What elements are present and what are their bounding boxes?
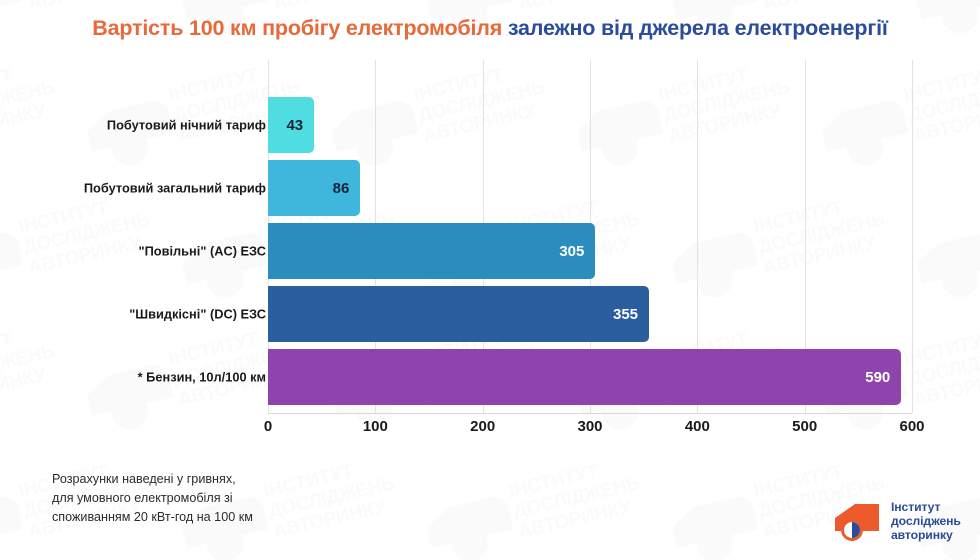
- bar-value-label: 43: [286, 117, 314, 134]
- bar-category-label: Побутовий загальний тариф: [84, 181, 266, 196]
- logo-line-3: авторинку: [891, 528, 961, 542]
- logo-wordmark: Інститут досліджень авторинку: [891, 500, 961, 543]
- bar-5[interactable]: 590: [268, 349, 901, 405]
- bar-row[interactable]: "Повільні" (AC) ЕЗС305: [0, 223, 980, 279]
- bar-value-label: 355: [613, 306, 649, 323]
- bar-row[interactable]: "Швидкісні" (DC) ЕЗС355: [0, 286, 980, 342]
- x-axis-tick-label: 0: [264, 418, 272, 435]
- car-logo-icon: [833, 502, 889, 542]
- x-axis-tick-label: 100: [363, 418, 388, 435]
- bar-category-label: * Бензин, 10л/100 км: [138, 370, 266, 385]
- page-title: Вартість 100 км пробігу електромобіля за…: [0, 16, 980, 41]
- x-axis-line: [268, 413, 912, 414]
- footnote-text: Розрахунки наведені у гривнях, для умовн…: [52, 470, 253, 527]
- logo-line-2: досліджень: [891, 514, 961, 528]
- logo-line-1: Інститут: [891, 500, 961, 514]
- x-axis-tick-label: 600: [899, 418, 924, 435]
- bar-category-label: "Повільні" (AC) ЕЗС: [139, 244, 266, 259]
- bar-category-label: Побутовий нічний тариф: [107, 118, 266, 133]
- bar-value-label: 86: [333, 180, 361, 197]
- title-part-secondary: залежно від джерела електроенергії: [508, 16, 888, 40]
- bar-3[interactable]: 305: [268, 223, 595, 279]
- bar-value-label: 305: [559, 243, 595, 260]
- x-axis-tick-label: 400: [685, 418, 710, 435]
- x-axis-tick-label: 300: [577, 418, 602, 435]
- bar-2[interactable]: 86: [268, 160, 360, 216]
- bar-4[interactable]: 355: [268, 286, 649, 342]
- x-axis-tick-label: 500: [792, 418, 817, 435]
- bar-1[interactable]: 43: [268, 97, 314, 153]
- bar-category-label: "Швидкісні" (DC) ЕЗС: [129, 307, 266, 322]
- x-axis-tick-label: 200: [470, 418, 495, 435]
- brand-logo: Інститут досліджень авторинку: [833, 500, 967, 548]
- bar-value-label: 590: [865, 369, 901, 386]
- infographic-root: ІНСТИТУТДОСЛІДЖЕНЬАВТОРИНКУІНСТИТУТДОСЛІ…: [0, 0, 980, 560]
- bar-row[interactable]: Побутовий загальний тариф86: [0, 160, 980, 216]
- title-part-primary: Вартість 100 км пробігу електромобіля: [92, 16, 502, 40]
- bar-row[interactable]: * Бензин, 10л/100 км590: [0, 349, 980, 405]
- bar-row[interactable]: Побутовий нічний тариф43: [0, 97, 980, 153]
